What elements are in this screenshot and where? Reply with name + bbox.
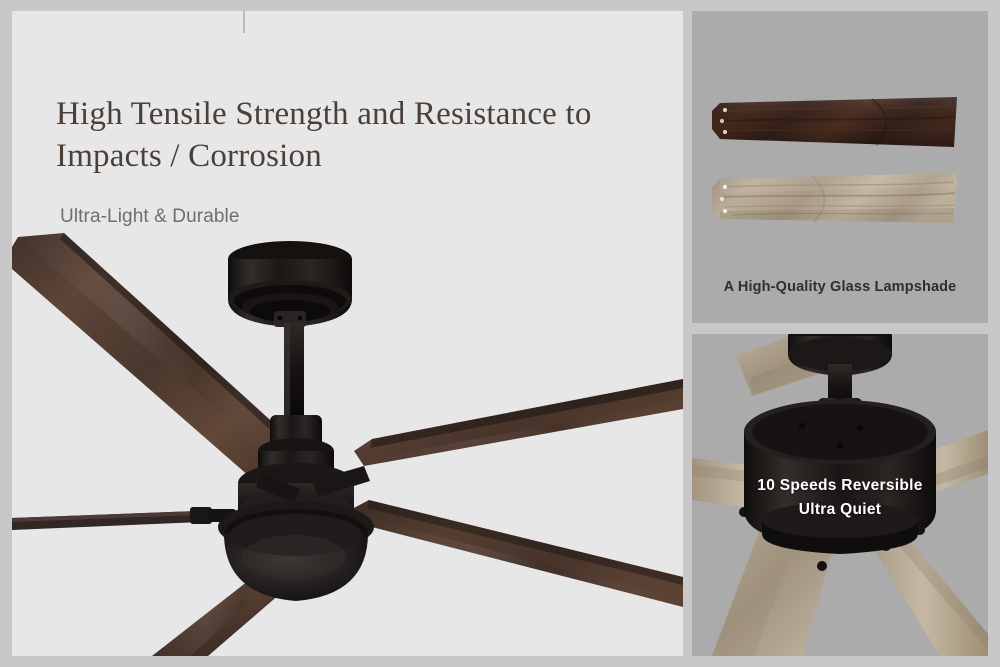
swatch-weathered-oak-blade bbox=[712, 173, 957, 223]
fan-downrod bbox=[284, 323, 304, 423]
motor-housing bbox=[744, 398, 936, 554]
fan-canopy bbox=[228, 241, 352, 327]
product-feature-banner: High Tensile Strength and Resistance to … bbox=[0, 0, 1000, 667]
hero-subhead: Ultra-Light & Durable bbox=[60, 206, 656, 228]
blade-caption: A High-Quality Glass Lampshade bbox=[692, 279, 988, 295]
page-title: High Tensile Strength and Resistance to … bbox=[56, 93, 656, 177]
swatch-dark-walnut-blade bbox=[712, 97, 957, 147]
blade-swatches-image bbox=[692, 11, 988, 323]
hero-text-block: High Tensile Strength and Resistance to … bbox=[56, 93, 656, 228]
blade-swatches-panel: A High-Quality Glass Lampshade bbox=[692, 11, 988, 323]
motor-closeup-image bbox=[692, 334, 988, 656]
hero-panel: High Tensile Strength and Resistance to … bbox=[12, 11, 683, 656]
motor-closeup-panel: 10 Speeds Reversible Ultra Quiet bbox=[692, 334, 988, 656]
